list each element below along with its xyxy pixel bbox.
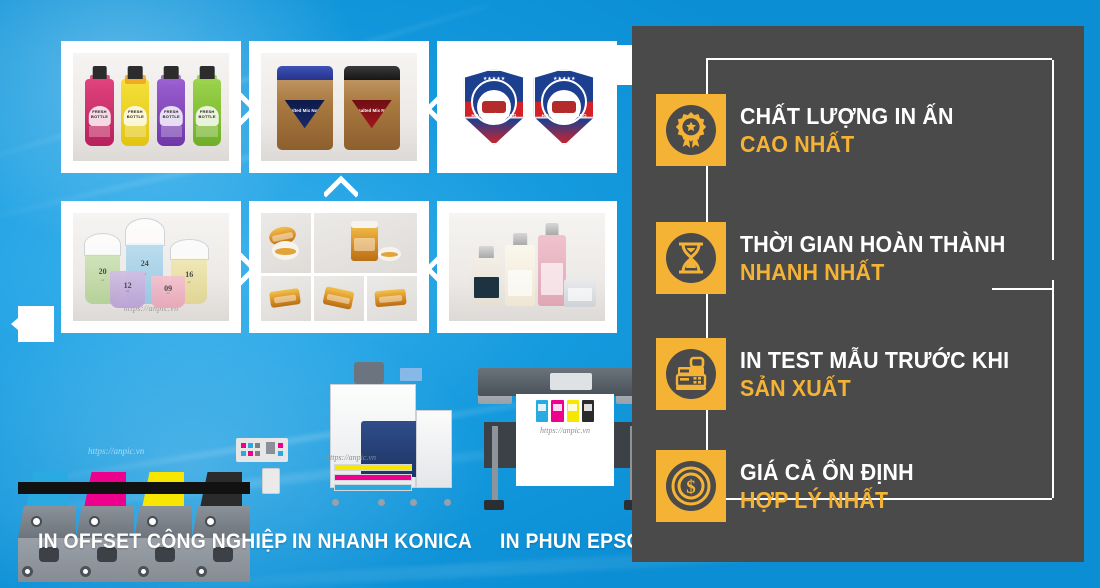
epson-cartridges [536,400,594,422]
cup-09oz: 09 oz [151,276,185,308]
arrow-right-icon-row1-a [236,92,258,126]
cosmetic-tin [564,279,595,307]
honey-jars-collage-card[interactable] [252,204,426,330]
printers-row: https://anpic.vn https://anpic.vn [0,358,670,528]
honda-badge-1: ★★★★★ HONDA ĐỨC DUNG [463,69,525,145]
cash-register-icon [656,338,726,410]
honda-badges-card[interactable]: ★★★★★ HONDA ĐỨC DUNG ★★★★★ HONDA ĐỨC DUN… [440,44,614,170]
arrow-left-icon-row2-b [424,252,446,286]
hourglass-icon [656,222,726,294]
jar-unsalted-nuts: Unsalted Mix Nuts [344,66,400,150]
konica-digital-press[interactable]: https://anpic.vn [312,360,462,510]
gallery-column: FRESHBOTTLE FRESHBOTTLE FRESHBOTTLE FRES… [0,0,670,588]
epson-large-format-printer[interactable]: https://anpic.vn [478,364,650,510]
feature-sub-text: CAO NHẤT [740,131,954,157]
bottle-purple: FRESHBOTTLE [157,79,185,146]
nut-jars-card[interactable]: Salted Mix Nuts Unsalted Mix Nuts [252,44,426,170]
juice-bottles-card[interactable]: FRESHBOTTLE FRESHBOTTLE FRESHBOTTLE FRES… [64,44,238,170]
poster-canvas: FRESHBOTTLE FRESHBOTTLE FRESHBOTTLE FRES… [0,0,1100,588]
bottle-yellow: FRESHBOTTLE [121,79,149,146]
feature-main-text: IN TEST MẪU TRƯỚC KHI [740,347,1009,373]
collage-cell-top-view [261,213,311,273]
feature-turnaround-time[interactable]: THỜI GIAN HOÀN THÀNH NHANH NHẤT [656,222,1026,294]
cosmetic-jar-navy [471,258,502,306]
award-ribbon-icon [656,94,726,166]
svg-text:$: $ [686,477,696,498]
cosmetic-bottle-cream [505,245,535,305]
plastic-cups-card[interactable]: 20 oz 24 oz 16 oz 12 oz 09 [64,204,238,330]
watermark-epson: https://anpic.vn [522,426,608,435]
feature-print-quality[interactable]: CHẤT LƯỢNG IN ẤN CAO NHẤT [656,94,970,166]
feature-test-print[interactable]: IN TEST MẪU TRƯỚC KHI SẢN XUẤT [656,338,1030,410]
cosmetic-bottle-pink [538,235,566,306]
arrow-up-icon [324,172,358,198]
jar-salted-nuts: Salted Mix Nuts [277,66,333,150]
feature-main-text: GIÁ CẢ ỔN ĐỊNH [740,459,914,485]
press-control-panel [236,438,288,462]
watermark-press: https://anpic.vn [88,446,144,456]
dollar-coin-icon: $ [656,450,726,522]
benefits-panel: CHẤT LƯỢNG IN ẤN CAO NHẤT [632,26,1084,562]
offset-press[interactable]: https://anpic.vn [18,366,288,506]
arrow-left-icon-row1-b [424,92,446,126]
bottle-pink: FRESHBOTTLE [85,79,113,146]
collage-cell-lying-2 [314,276,364,321]
feature-sub-text: NHANH NHẤT [740,259,1006,285]
machine-labels: IN OFFSET CÔNG NGHIỆP IN NHANH KONICA IN… [0,518,670,568]
label-konica: IN NHANH KONICA [292,530,472,554]
label-offset: IN OFFSET CÔNG NGHIỆP [38,530,287,554]
collage-cell-lying-3 [367,276,417,321]
watermark-konica: https://anpic.vn [326,453,376,462]
cup-12oz: 12 oz [110,271,144,308]
feature-sub-text: HỢP LÝ NHẤT [740,487,914,513]
feature-main-text: CHẤT LƯỢNG IN ẤN [740,103,954,129]
arrow-right-icon-row2-a [236,252,258,286]
watermark-cups: https://anpic.vn [73,304,229,313]
feature-stable-price[interactable]: $ GIÁ CẢ ỔN ĐỊNH HỢP LÝ NHẤT [656,450,927,522]
honda-badge-2: ★★★★★ HONDA ĐỨC DUNG [533,69,595,145]
cosmetics-bottles-card[interactable] [440,204,614,330]
bottle-green: FRESHBOTTLE [193,79,221,146]
feature-sub-text: SẢN XUẤT [740,375,1009,401]
collage-cell-jar-with-lid [314,213,417,273]
collage-cell-lying-1 [261,276,311,321]
feature-main-text: THỜI GIAN HOÀN THÀNH [740,231,1006,257]
